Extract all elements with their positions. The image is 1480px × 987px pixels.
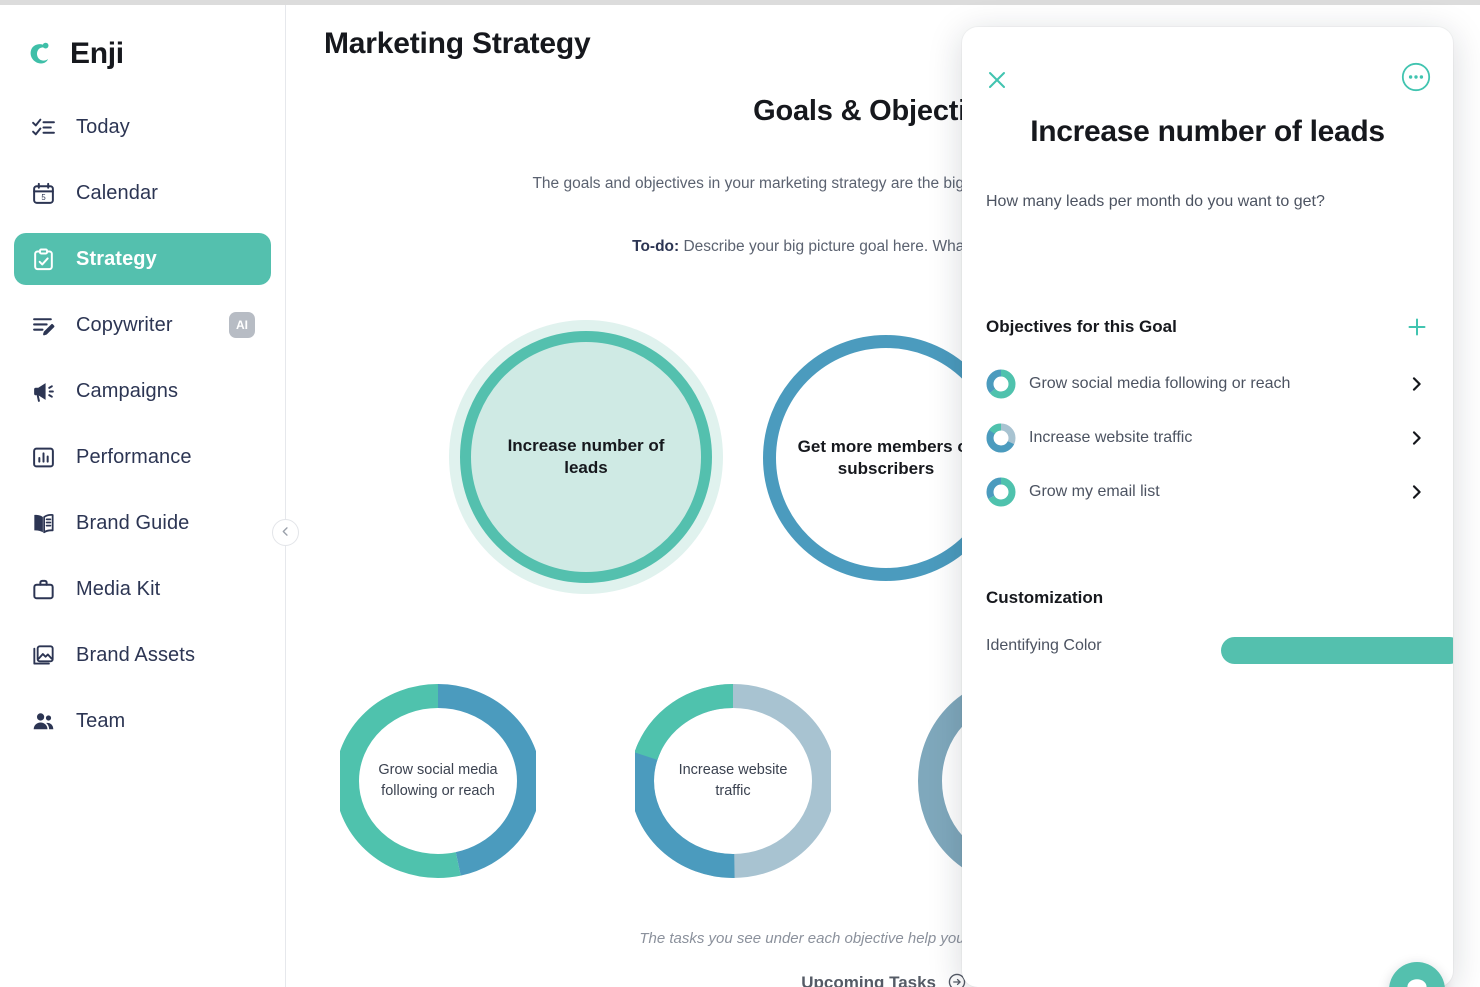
sidebar-item-team[interactable]: Team	[14, 695, 271, 747]
objective-row-increase-website-traffic[interactable]: Increase website traffic	[986, 411, 1429, 465]
chevron-left-icon	[280, 524, 291, 542]
objective-bubble-label: Grow social media following or reach	[340, 677, 536, 885]
close-icon[interactable]	[986, 69, 1008, 91]
objective-label: Grow my email list	[1029, 483, 1409, 501]
open-book-icon	[30, 510, 56, 536]
identifying-color-label: Identifying Color	[986, 637, 1102, 655]
enji-logo-icon	[22, 37, 56, 71]
upcoming-tasks-label: Upcoming Tasks	[801, 973, 936, 987]
sidebar-item-label: Team	[76, 710, 125, 733]
sidebar-item-label: Brand Guide	[76, 512, 189, 535]
objective-bubble-grow-social-media[interactable]: Grow social media following or reach	[340, 677, 536, 885]
bar-chart-icon	[30, 444, 56, 470]
image-stack-icon	[30, 642, 56, 668]
progress-ring-icon	[986, 477, 1016, 507]
objectives-heading: Objectives for this Goal	[986, 317, 1177, 337]
sidebar-item-media-kit[interactable]: Media Kit	[14, 563, 271, 615]
goal-bubble-increase-leads[interactable]: Increase number of leads	[460, 331, 712, 583]
sidebar-item-strategy[interactable]: Strategy	[14, 233, 271, 285]
objective-bubble-label: Increase website traffic	[635, 677, 831, 885]
progress-ring-icon	[986, 423, 1016, 453]
clipboard-check-icon	[30, 246, 56, 272]
sidebar-item-campaigns[interactable]: Campaigns	[14, 365, 271, 417]
progress-ring-icon	[986, 369, 1016, 399]
sidebar-item-label: Campaigns	[76, 380, 178, 403]
panel-scrollbar[interactable]	[1447, 37, 1451, 977]
sidebar-item-brand-guide[interactable]: Brand Guide	[14, 497, 271, 549]
checklist-icon	[30, 114, 56, 140]
sidebar-collapse-button[interactable]	[272, 519, 299, 546]
brand[interactable]: Enji	[0, 23, 285, 79]
customization-section-header: Customization	[986, 588, 1429, 608]
chevron-right-icon	[1409, 484, 1425, 500]
sidebar-item-label: Performance	[76, 446, 192, 469]
megaphone-icon	[30, 378, 56, 404]
app-root: Enji Today 5	[0, 0, 1480, 987]
brand-name: Enji	[70, 37, 124, 71]
sidebar-item-label: Media Kit	[76, 578, 160, 601]
objective-row-grow-social-media[interactable]: Grow social media following or reach	[986, 357, 1429, 411]
sidebar-item-copywriter[interactable]: Copywriter AI	[14, 299, 271, 351]
objectives-list: Grow social media following or reach Inc…	[986, 357, 1429, 519]
calendar-icon: 5	[30, 180, 56, 206]
sidebar-item-performance[interactable]: Performance	[14, 431, 271, 483]
panel-question: How many leads per month do you want to …	[986, 193, 1426, 211]
identifying-color-swatch[interactable]	[1221, 637, 1453, 664]
sidebar-item-label: Calendar	[76, 182, 158, 205]
chat-bubble-icon	[1403, 974, 1431, 987]
sidebar-item-today[interactable]: Today	[14, 101, 271, 153]
chevron-right-icon	[1409, 376, 1425, 392]
objective-row-grow-email-list[interactable]: Grow my email list	[986, 465, 1429, 519]
svg-text:5: 5	[41, 193, 46, 202]
objectives-section-header: Objectives for this Goal	[986, 315, 1429, 339]
goal-bubble-label: Increase number of leads	[471, 435, 701, 480]
sidebar-item-calendar[interactable]: 5 Calendar	[14, 167, 271, 219]
sidebar-nav: Today 5 Calendar	[0, 101, 285, 747]
identifying-color-row: Identifying Color	[986, 637, 1429, 655]
people-icon	[30, 708, 56, 734]
sidebar-item-label: Copywriter	[76, 314, 173, 337]
plus-icon[interactable]	[1405, 315, 1429, 339]
more-options-icon[interactable]	[1401, 62, 1431, 92]
document-pencil-icon	[30, 312, 56, 338]
goal-detail-panel: Increase number of leads How many leads …	[962, 27, 1453, 987]
panel-title: Increase number of leads	[962, 115, 1453, 149]
ai-badge: AI	[229, 312, 255, 338]
briefcase-icon	[30, 576, 56, 602]
customization-heading: Customization	[986, 588, 1103, 608]
sidebar-item-label: Today	[76, 116, 130, 139]
sidebar: Enji Today 5	[0, 5, 286, 987]
chevron-right-icon	[1409, 430, 1425, 446]
sidebar-item-label: Brand Assets	[76, 644, 195, 667]
sidebar-item-brand-assets[interactable]: Brand Assets	[14, 629, 271, 681]
objective-label: Grow social media following or reach	[1029, 375, 1409, 393]
objective-label: Increase website traffic	[1029, 429, 1409, 447]
objective-bubble-increase-website-traffic[interactable]: Increase website traffic	[635, 677, 831, 885]
sidebar-item-label: Strategy	[76, 248, 157, 271]
